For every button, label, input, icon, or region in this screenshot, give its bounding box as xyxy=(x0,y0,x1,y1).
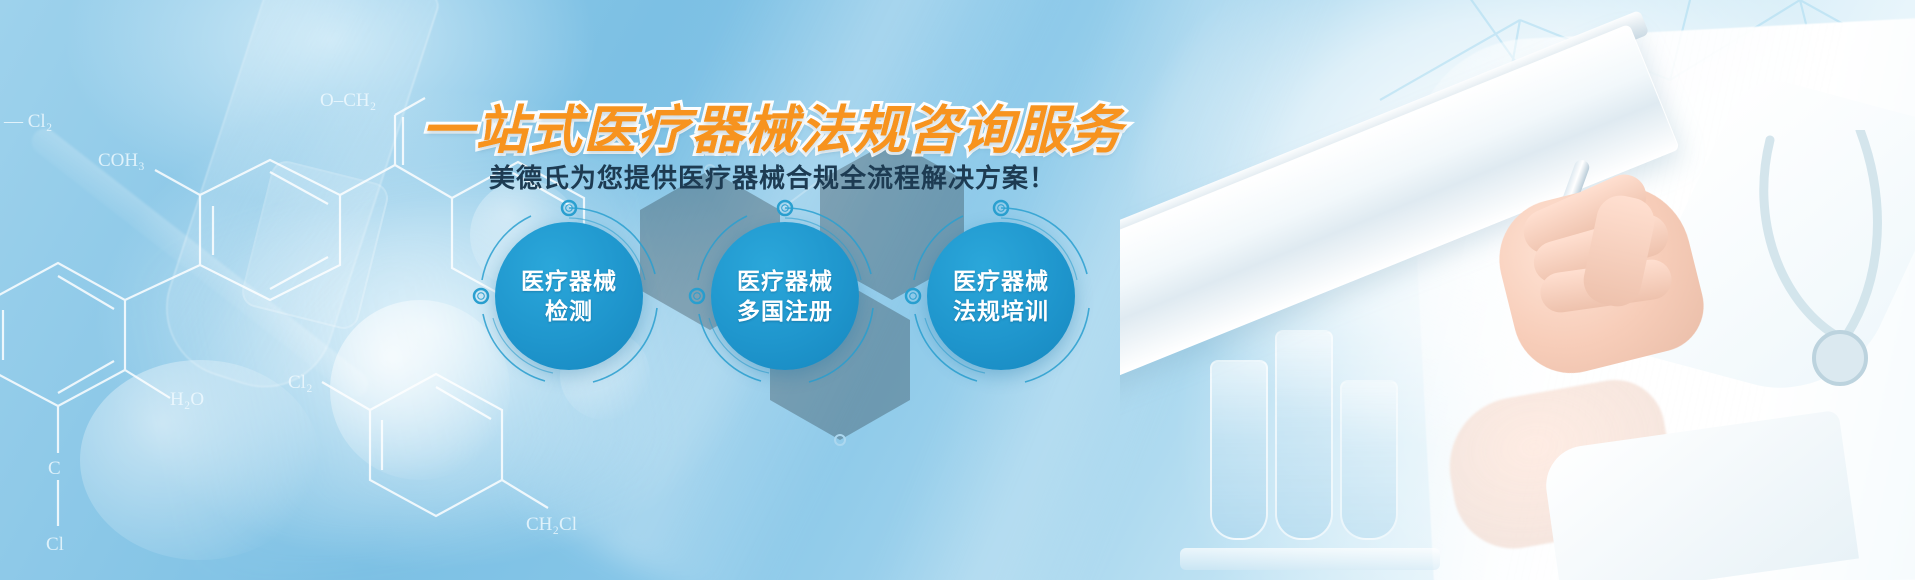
service-circle-testing-wrap: 医疗器械 检测 xyxy=(495,222,643,370)
hand-supporting-graphic xyxy=(1439,372,1682,558)
banner-subtitle: 美德氏为您提供医疗器械合规全流程解决方案！ xyxy=(0,158,1545,195)
service-circle-training-wrap: 医疗器械 法规培训 xyxy=(927,222,1075,370)
lab-coat-sleeve-graphic xyxy=(1541,410,1859,580)
chem-label-cl-bottom: Cl xyxy=(46,534,64,555)
chem-label-c-center: C xyxy=(48,458,61,479)
service-circle-registration[interactable]: 医疗器械 多国注册 xyxy=(711,222,859,370)
test-tube-graphic xyxy=(1210,360,1268,540)
doctor-clipboard-photo xyxy=(1120,0,1915,580)
medical-regulatory-banner: — Cl₂ COH₃ O–CH₂ H₂O Cl C Cl Cl₂ CH₂Cl C… xyxy=(0,0,1915,580)
service-circle-group: 医疗器械 检测 医疗器械 多国注册 xyxy=(495,222,1075,370)
thumb-graphic xyxy=(1579,191,1659,311)
service-label-line1: 医疗器械 xyxy=(953,266,1049,296)
service-label-line2: 多国注册 xyxy=(737,296,833,326)
service-circle-testing[interactable]: 医疗器械 检测 xyxy=(495,222,643,370)
finger-graphic xyxy=(1538,257,1674,315)
hand-holding-pen-graphic xyxy=(1487,170,1714,386)
chem-label-h2o: H₂O xyxy=(170,389,204,410)
service-circle-registration-wrap: 医疗器械 多国注册 xyxy=(711,222,859,370)
banner-headline: 一站式医疗器械法规咨询服务 xyxy=(0,88,1545,163)
bokeh-light-decoration xyxy=(80,360,320,560)
service-label-line2: 检测 xyxy=(545,296,593,326)
chem-label-cl2-lower: Cl₂ xyxy=(288,372,313,393)
stethoscope-icon xyxy=(1740,130,1915,390)
service-label-line1: 医疗器械 xyxy=(737,266,833,296)
test-tube-graphic xyxy=(1340,380,1398,540)
test-tube-rack-graphic xyxy=(1180,548,1440,570)
chem-label-ch2cl: CH₂Cl xyxy=(526,514,577,535)
finger-graphic xyxy=(1529,210,1673,288)
service-label-line1: 医疗器械 xyxy=(521,266,617,296)
service-label-line2: 法规培训 xyxy=(953,296,1049,326)
test-tube-graphic xyxy=(1275,330,1333,540)
clipboard-graphic xyxy=(1120,24,1680,411)
bokeh-light-decoration xyxy=(330,300,510,480)
lab-coat-collar-graphic xyxy=(1620,72,1915,408)
service-circle-training[interactable]: 医疗器械 法规培训 xyxy=(927,222,1075,370)
pen-tip-graphic xyxy=(1583,299,1606,335)
test-tube-graphic xyxy=(148,0,443,406)
